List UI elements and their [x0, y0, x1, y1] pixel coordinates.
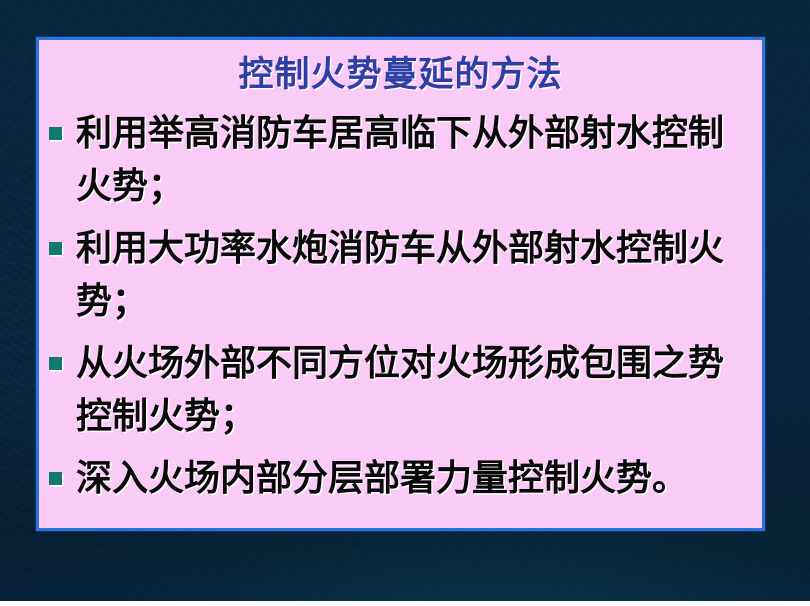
presentation-slide: 控制火势蔓延的方法 利用举高消防车居高临下从外部射水控制火势； 利用大功率水炮消… — [0, 0, 810, 606]
square-bullet-icon — [49, 242, 62, 255]
slide-title: 控制火势蔓延的方法 — [39, 40, 762, 97]
list-item-label: 深入火场内部分层部署力量控制火势。 — [76, 452, 748, 505]
list-item: 深入火场内部分层部署力量控制火势。 — [39, 452, 762, 505]
content-panel: 控制火势蔓延的方法 利用举高消防车居高临下从外部射水控制火势； 利用大功率水炮消… — [36, 37, 765, 531]
bullet-list: 利用举高消防车居高临下从外部射水控制火势； 利用大功率水炮消防车从外部射水控制火… — [39, 97, 762, 505]
list-item: 从火场外部不同方位对火场形成包围之势控制火势； — [39, 337, 762, 443]
list-item-label: 利用大功率水炮消防车从外部射水控制火势； — [76, 222, 748, 328]
list-item-label: 利用举高消防车居高临下从外部射水控制火势； — [76, 107, 748, 213]
bottom-white-strip — [0, 601, 810, 606]
list-item-label: 从火场外部不同方位对火场形成包围之势控制火势； — [76, 337, 748, 443]
square-bullet-icon — [49, 472, 62, 485]
square-bullet-icon — [49, 127, 62, 140]
square-bullet-icon — [49, 357, 62, 370]
list-item: 利用举高消防车居高临下从外部射水控制火势； — [39, 107, 762, 213]
list-item: 利用大功率水炮消防车从外部射水控制火势； — [39, 222, 762, 328]
